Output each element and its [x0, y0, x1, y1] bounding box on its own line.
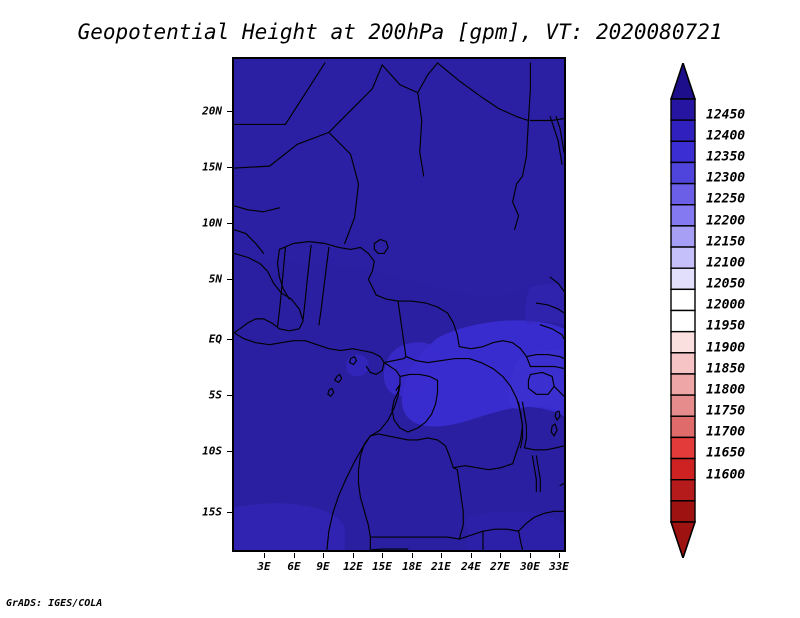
lat-tick [227, 451, 232, 452]
lat-label-eq: EQ [180, 333, 222, 346]
colorbar-label-12450: 12450 [706, 108, 745, 123]
lon-label-3e: 3E [257, 560, 270, 573]
lon-label-12e: 12E [343, 560, 363, 573]
lon-tick [530, 553, 531, 558]
lon-tick [500, 553, 501, 558]
colorbar-label-11800: 11800 [706, 383, 745, 398]
lon-tick [559, 553, 560, 558]
lon-tick [382, 553, 383, 558]
lon-tick [323, 553, 324, 558]
lon-tick [264, 553, 265, 558]
lat-label-15s: 15S [180, 506, 222, 519]
colorbar-label-12400: 12400 [706, 129, 745, 144]
lon-label-33e: 33E [549, 560, 569, 573]
lon-tick [294, 553, 295, 558]
colorbar: 12450 12400 12350 12300 12250 12200 1215… [670, 63, 696, 558]
colorbar-label-11600: 11600 [706, 468, 745, 483]
lat-label-10s: 10S [180, 445, 222, 458]
colorbar-label-11650: 11650 [706, 446, 745, 461]
colorbar-label-11950: 11950 [706, 319, 745, 334]
lat-label-5s: 5S [180, 389, 222, 402]
lon-label-9e: 9E [316, 560, 329, 573]
page-title: Geopotential Height at 200hPa [gpm], VT:… [0, 20, 800, 44]
lon-label-15e: 15E [372, 560, 392, 573]
lat-tick [227, 279, 232, 280]
lon-label-27e: 27E [490, 560, 510, 573]
lat-label-15n: 15N [180, 161, 222, 174]
colorbar-swatches [670, 63, 696, 558]
lon-tick [353, 553, 354, 558]
colorbar-label-12350: 12350 [706, 150, 745, 165]
colorbar-label-11700: 11700 [706, 425, 745, 440]
lon-tick [441, 553, 442, 558]
colorbar-label-12300: 12300 [706, 171, 745, 186]
lon-tick [412, 553, 413, 558]
lon-label-21e: 21E [431, 560, 451, 573]
lon-label-24e: 24E [461, 560, 481, 573]
colorbar-label-11750: 11750 [706, 404, 745, 419]
grads-credit: GrADS: IGES/COLA [6, 598, 102, 609]
colorbar-label-11850: 11850 [706, 362, 745, 377]
colorbar-label-11900: 11900 [706, 341, 745, 356]
lat-label-20n: 20N [180, 105, 222, 118]
lat-tick [227, 512, 232, 513]
colorbar-label-12100: 12100 [706, 256, 745, 271]
lat-tick [227, 339, 232, 340]
grads-plot-page: Geopotential Height at 200hPa [gpm], VT:… [0, 0, 800, 618]
lat-tick [227, 223, 232, 224]
colorbar-label-12200: 12200 [706, 214, 745, 229]
lon-label-30e: 30E [520, 560, 540, 573]
lat-tick [227, 167, 232, 168]
lat-label-5n: 5N [180, 273, 222, 286]
colorbar-label-12250: 12250 [706, 192, 745, 207]
map-shaded-field [234, 59, 564, 550]
lon-tick [471, 553, 472, 558]
colorbar-label-12000: 12000 [706, 298, 745, 313]
colorbar-label-12150: 12150 [706, 235, 745, 250]
colorbar-label-12050: 12050 [706, 277, 745, 292]
lon-label-18e: 18E [402, 560, 422, 573]
lon-label-6e: 6E [287, 560, 300, 573]
map-plot-area [232, 57, 566, 552]
lat-label-10n: 10N [180, 217, 222, 230]
lat-tick [227, 111, 232, 112]
lat-tick [227, 395, 232, 396]
